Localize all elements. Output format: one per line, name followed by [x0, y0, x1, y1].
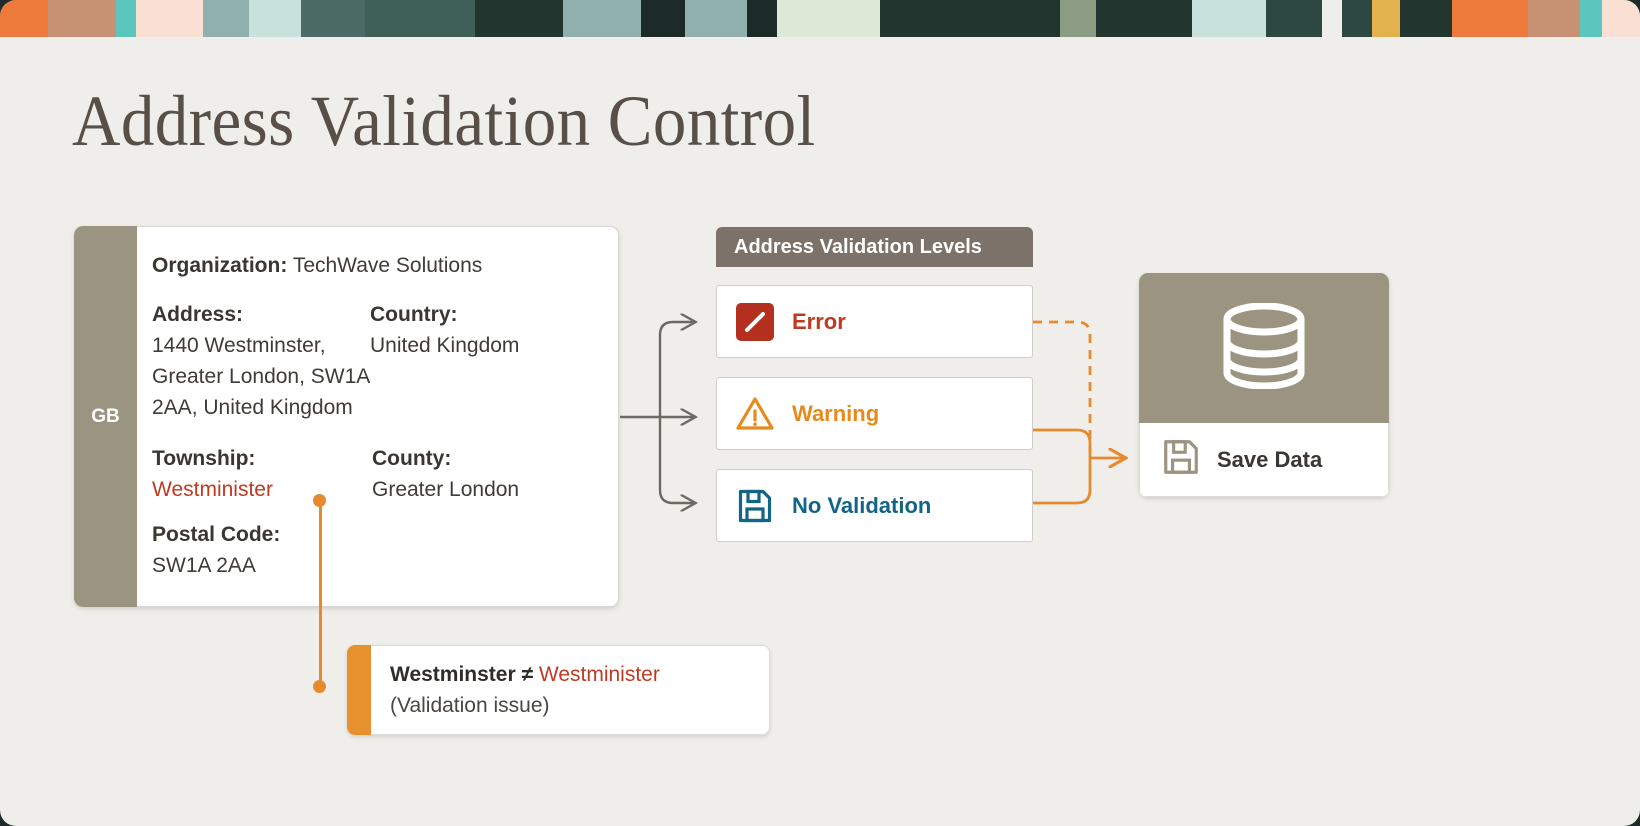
organization-row: Organization: TechWave Solutions — [152, 250, 618, 281]
leader-stem — [319, 501, 322, 687]
address-card-body: Organization: TechWave Solutions Address… — [137, 226, 619, 607]
error-flow-path — [1033, 322, 1090, 452]
validation-level-no-validation[interactable]: No Validation — [716, 469, 1033, 542]
address-label: Address: — [152, 299, 370, 330]
country-value: United Kingdom — [370, 330, 598, 361]
address-card: GB Organization: TechWave Solutions Addr… — [74, 226, 619, 607]
organization-label: Organization: — [152, 254, 287, 277]
validation-levels-header: Address Validation Levels — [716, 227, 1033, 267]
database-icon — [1219, 303, 1309, 394]
save-data-card-footer: Save Data — [1139, 423, 1389, 497]
address-value: 1440 Westminster, Greater London, SW1A 2… — [152, 330, 370, 423]
county-value: Greater London — [372, 474, 600, 505]
validation-level-warning[interactable]: Warning — [716, 377, 1033, 450]
address-country-row: Address: 1440 Westminster, Greater Londo… — [152, 299, 618, 423]
warning-triangle-icon — [736, 395, 774, 433]
pattern-tile — [820, 0, 1640, 37]
callout-expected-value: Westminster — [390, 663, 516, 686]
validation-level-error[interactable]: Error — [716, 285, 1033, 358]
validation-level-label: No Validation — [792, 493, 931, 519]
township-county-row: Township: Westminister County: Greater L… — [152, 443, 618, 505]
organization-value: TechWave Solutions — [293, 254, 482, 277]
county-label: County: — [372, 443, 600, 474]
validation-issue-callout: Westminster ≠ Westminister (Validation i… — [347, 645, 770, 735]
decorative-pattern-strip — [0, 0, 1640, 37]
country-flag-label: GB — [91, 406, 120, 428]
validation-levels-title: Address Validation Levels — [734, 236, 982, 259]
slide-canvas: Address Validation Control GB Organizati… — [0, 0, 1640, 826]
callout-body: Westminster ≠ Westminister (Validation i… — [371, 645, 770, 735]
callout-comparison: Westminster ≠ Westminister — [390, 659, 769, 690]
postal-code-field: Postal Code: SW1A 2AA — [152, 519, 370, 581]
township-label: Township: — [152, 443, 370, 474]
callout-leader-line — [313, 494, 327, 694]
country-label: Country: — [370, 299, 598, 330]
callout-operator: ≠ — [522, 663, 534, 686]
township-value: Westminister — [152, 474, 370, 505]
postal-code-label: Postal Code: — [152, 519, 370, 550]
floppy-disk-icon — [736, 487, 774, 525]
country-field: Country: United Kingdom — [370, 299, 598, 423]
address-field: Address: 1440 Westminster, Greater Londo… — [152, 299, 370, 423]
callout-accent-bar — [347, 645, 371, 735]
save-data-card-header — [1139, 273, 1389, 423]
validation-level-label: Error — [792, 309, 846, 335]
callout-note: (Validation issue) — [390, 690, 769, 721]
save-data-card[interactable]: Save Data — [1139, 273, 1389, 497]
branch-connector — [620, 322, 694, 503]
floppy-disk-icon — [1161, 437, 1201, 482]
county-field: County: Greater London — [372, 443, 600, 505]
save-data-label: Save Data — [1217, 447, 1322, 473]
country-flag-badge: GB — [74, 226, 137, 607]
pattern-tile — [0, 0, 820, 37]
postal-code-row: Postal Code: SW1A 2AA — [152, 519, 618, 581]
flow-paths — [1033, 430, 1124, 503]
callout-actual-value: Westminister — [539, 663, 660, 686]
validation-level-label: Warning — [792, 401, 879, 427]
township-field: Township: Westminister — [152, 443, 370, 505]
postal-code-value: SW1A 2AA — [152, 550, 370, 581]
error-slash-icon — [736, 303, 774, 341]
page-title: Address Validation Control — [72, 75, 816, 167]
leader-dot-bottom — [313, 680, 326, 693]
